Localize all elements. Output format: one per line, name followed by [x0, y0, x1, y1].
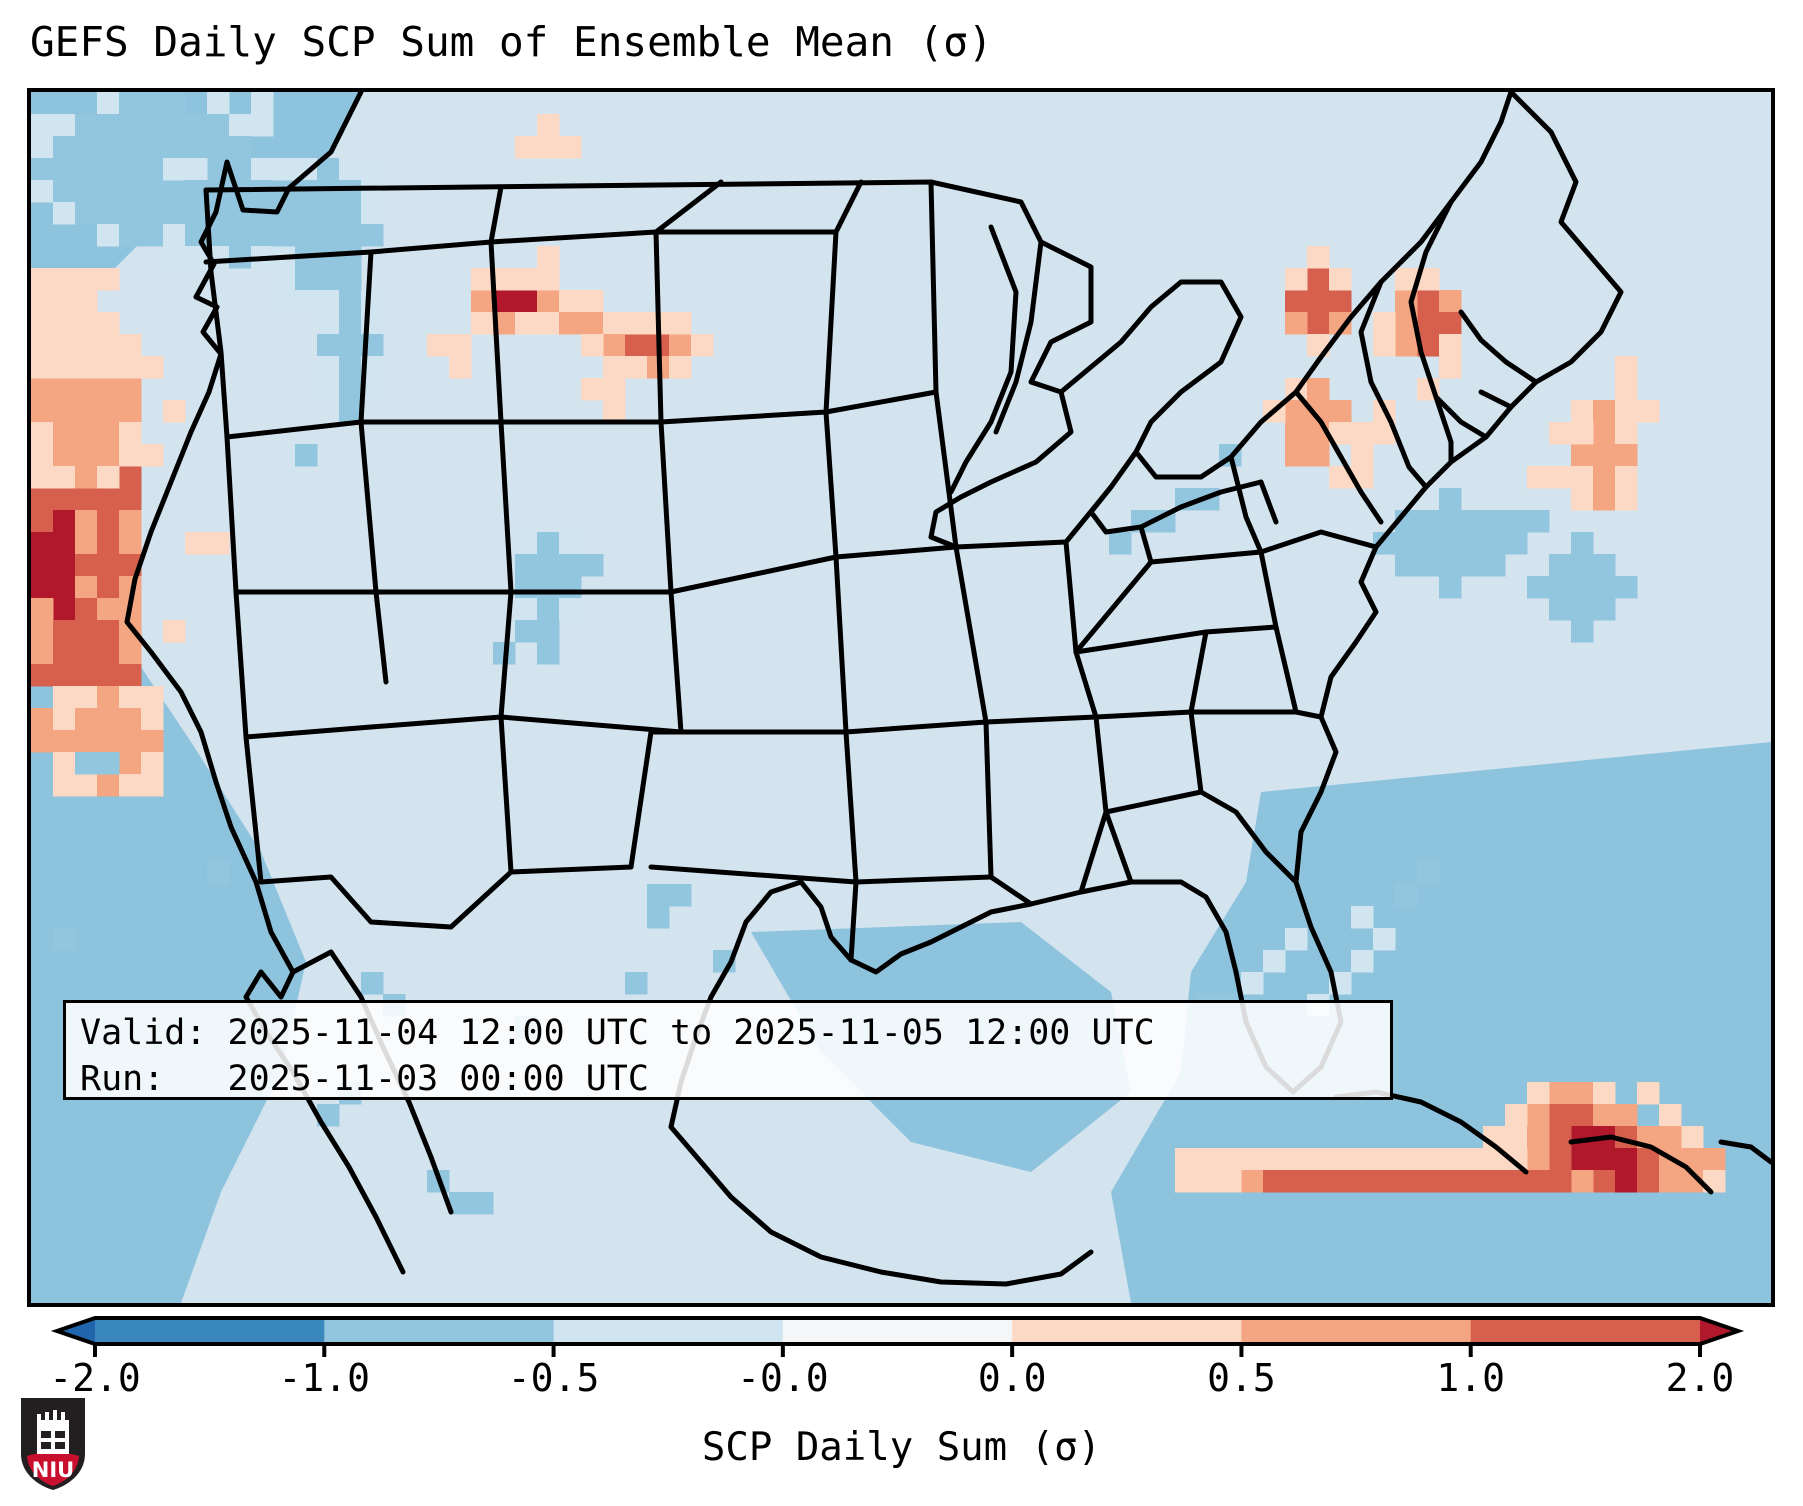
grid-cell	[53, 158, 76, 181]
grid-cell	[1593, 598, 1616, 621]
colorbar-tick-label: 0.5	[1207, 1356, 1276, 1400]
grid-cell	[1307, 1170, 1330, 1193]
colorbar-canvas[interactable]	[0, 1312, 1803, 1358]
grid-cell	[119, 378, 142, 401]
grid-cell	[559, 136, 582, 159]
grid-cell	[295, 202, 318, 225]
grid-cell	[53, 598, 76, 621]
grid-cell	[559, 312, 582, 335]
grid-cell	[163, 114, 186, 137]
grid-cell	[53, 356, 76, 379]
grid-cell	[97, 752, 120, 775]
grid-cell	[1395, 554, 1418, 577]
grid-cell	[1659, 1126, 1682, 1149]
grid-cell	[559, 532, 582, 555]
grid-cell	[185, 158, 208, 181]
grid-cell	[53, 510, 76, 533]
grid-cell	[75, 202, 98, 225]
grid-cell	[97, 136, 120, 159]
grid-cell	[75, 312, 98, 335]
grid-cell	[229, 224, 252, 247]
grid-cell	[119, 642, 142, 665]
grid-cell	[119, 532, 142, 555]
grid-cell	[669, 884, 692, 907]
grid-cell	[295, 444, 318, 467]
grid-cell	[1285, 268, 1308, 291]
grid-cell	[97, 114, 120, 137]
grid-cell	[295, 290, 318, 313]
grid-cell	[75, 334, 98, 357]
grid-cell	[141, 730, 164, 753]
grid-cell	[1571, 1082, 1594, 1105]
grid-cell	[1417, 1148, 1440, 1171]
grid-cell	[1615, 1104, 1638, 1127]
grid-cell	[1549, 598, 1572, 621]
grid-cell	[31, 488, 54, 511]
grid-cell	[75, 444, 98, 467]
grid-cell	[141, 92, 164, 115]
grid-cell	[603, 334, 626, 357]
grid-cell	[75, 730, 98, 753]
grid-cell	[515, 532, 538, 555]
grid-cell	[53, 686, 76, 709]
colorbar-segment	[95, 1318, 325, 1344]
grid-cell	[581, 334, 604, 357]
grid-cell	[163, 620, 186, 643]
grid-cell	[75, 158, 98, 181]
grid-cell	[537, 620, 560, 643]
grid-cell	[141, 686, 164, 709]
grid-cell	[53, 444, 76, 467]
grid-cell	[537, 532, 560, 555]
grid-cell	[1351, 444, 1374, 467]
grid-cell	[317, 378, 340, 401]
grid-cell	[1593, 422, 1616, 445]
grid-cell	[1527, 1126, 1550, 1149]
grid-cell	[53, 312, 76, 335]
grid-cell	[1373, 312, 1396, 335]
grid-cell	[361, 224, 384, 247]
grid-cell	[1395, 334, 1418, 357]
grid-cell	[1527, 576, 1550, 599]
grid-cell	[97, 554, 120, 577]
grid-cell	[163, 180, 186, 203]
grid-cell	[339, 202, 362, 225]
grid-cell	[141, 356, 164, 379]
grid-cell	[1549, 576, 1572, 599]
grid-cell	[119, 356, 142, 379]
grid-cell	[537, 554, 560, 577]
grid-cell	[1527, 1148, 1550, 1171]
grid-cell	[1615, 400, 1638, 423]
grid-cell	[97, 620, 120, 643]
grid-cell	[1527, 510, 1550, 533]
grid-cell	[1681, 1126, 1704, 1149]
grid-cell	[625, 334, 648, 357]
grid-cell	[119, 752, 142, 775]
grid-cell	[119, 488, 142, 511]
grid-cell	[141, 708, 164, 731]
grid-cell	[339, 356, 362, 379]
grid-cell	[119, 180, 142, 203]
grid-cell	[1703, 1148, 1726, 1171]
colorbar-segment	[1241, 1318, 1471, 1344]
grid-cell	[515, 598, 538, 621]
grid-cell	[1439, 510, 1462, 533]
grid-cell	[581, 378, 604, 401]
grid-cell	[119, 92, 142, 115]
grid-cell	[1571, 444, 1594, 467]
grid-cell	[163, 246, 186, 269]
grid-cell	[1615, 466, 1638, 489]
grid-cell	[75, 686, 98, 709]
grid-cell	[581, 290, 604, 313]
grid-cell	[207, 114, 230, 137]
grid-cell	[163, 400, 186, 423]
grid-cell	[1395, 1148, 1418, 1171]
grid-cell	[361, 972, 384, 995]
grid-cell	[1571, 554, 1594, 577]
grid-cell	[1527, 466, 1550, 489]
grid-cell	[75, 664, 98, 687]
grid-cell	[119, 774, 142, 797]
grid-cell	[647, 884, 670, 907]
grid-cell	[1329, 290, 1352, 313]
colorbar-segment	[1012, 1318, 1242, 1344]
grid-cell	[449, 356, 472, 379]
grid-cell	[273, 158, 296, 181]
grid-cell	[1307, 312, 1330, 335]
grid-cell	[31, 378, 54, 401]
grid-cell	[1549, 1148, 1572, 1171]
valid-time-line: Valid: 2025-11-04 12:00 UTC to 2025-11-0…	[80, 1010, 1376, 1056]
grid-cell	[361, 290, 384, 313]
grid-cell	[1461, 1170, 1484, 1193]
grid-cell	[163, 224, 186, 247]
grid-cell	[31, 664, 54, 687]
grid-cell	[53, 708, 76, 731]
grid-cell	[31, 708, 54, 731]
grid-cell	[141, 136, 164, 159]
grid-cell	[75, 378, 98, 401]
grid-cell	[1241, 1170, 1264, 1193]
grid-cell	[537, 576, 560, 599]
grid-cell	[1659, 1170, 1682, 1193]
grid-cell	[1307, 444, 1330, 467]
grid-cell	[1571, 1148, 1594, 1171]
grid-cell	[603, 312, 626, 335]
grid-cell	[1549, 1170, 1572, 1193]
grid-cell	[515, 136, 538, 159]
grid-cell	[75, 576, 98, 599]
grid-cell	[1439, 554, 1462, 577]
colorbar-segment	[783, 1318, 1013, 1344]
grid-cell	[97, 202, 120, 225]
grid-cell	[97, 334, 120, 357]
grid-cell	[119, 444, 142, 467]
grid-cell	[185, 114, 208, 137]
grid-cell	[75, 708, 98, 731]
info-box: Valid: 2025-11-04 12:00 UTC to 2025-11-0…	[63, 1000, 1393, 1100]
grid-cell	[537, 246, 560, 269]
grid-cell	[1615, 378, 1638, 401]
grid-cell	[1439, 1148, 1462, 1171]
grid-cell	[361, 180, 384, 203]
grid-cell	[31, 422, 54, 445]
grid-cell	[1571, 598, 1594, 621]
grid-cell	[31, 268, 54, 291]
grid-cell	[97, 158, 120, 181]
grid-cell	[75, 114, 98, 137]
grid-cell	[1329, 1170, 1352, 1193]
grid-cell	[207, 862, 230, 885]
grid-cell	[537, 136, 560, 159]
grid-cell	[1461, 532, 1484, 555]
grid-cell	[119, 136, 142, 159]
grid-cell	[1571, 488, 1594, 511]
grid-cell	[1439, 576, 1462, 599]
grid-cell	[317, 202, 340, 225]
grid-cell	[339, 312, 362, 335]
grid-cell	[1285, 290, 1308, 313]
grid-cell	[229, 136, 252, 159]
grid-cell	[559, 554, 582, 577]
grid-cell	[339, 400, 362, 423]
grid-cell	[75, 598, 98, 621]
colorbar[interactable]	[0, 1312, 1803, 1358]
grid-cell	[1571, 1170, 1594, 1193]
grid-cell	[471, 268, 494, 291]
grid-cell	[163, 158, 186, 181]
grid-cell	[53, 202, 76, 225]
colorbar-tick-label: 0.0	[978, 1356, 1047, 1400]
grid-cell	[339, 378, 362, 401]
grid-cell	[273, 290, 296, 313]
grid-cell	[75, 268, 98, 291]
grid-cell	[97, 180, 120, 203]
grid-cell	[1527, 1104, 1550, 1127]
grid-cell	[1571, 466, 1594, 489]
grid-cell	[1571, 620, 1594, 643]
grid-cell	[1263, 950, 1286, 973]
grid-cell	[1329, 268, 1352, 291]
grid-cell	[1483, 510, 1506, 533]
grid-cell	[339, 290, 362, 313]
grid-cell	[1549, 554, 1572, 577]
grid-cell	[31, 356, 54, 379]
grid-cell	[1549, 1104, 1572, 1127]
grid-cell	[361, 158, 384, 181]
map-panel[interactable]: Valid: 2025-11-04 12:00 UTC to 2025-11-0…	[27, 88, 1775, 1307]
grid-cell	[625, 356, 648, 379]
grid-cell	[1417, 862, 1440, 885]
niu-logo: NIU	[17, 1396, 89, 1492]
grid-cell	[185, 136, 208, 159]
grid-cell	[1615, 444, 1638, 467]
grid-cell	[1219, 1148, 1242, 1171]
grid-cell	[97, 510, 120, 533]
grid-cell	[1285, 444, 1308, 467]
grid-cell	[119, 400, 142, 423]
grid-cell	[75, 774, 98, 797]
grid-cell	[581, 312, 604, 335]
grid-cell	[1593, 1170, 1616, 1193]
grid-cell	[1593, 466, 1616, 489]
grid-cell	[53, 928, 76, 951]
grid-cell	[251, 92, 274, 115]
grid-cell	[317, 268, 340, 291]
grid-cell	[1109, 532, 1132, 555]
grid-cell	[119, 224, 142, 247]
grid-cell	[53, 488, 76, 511]
grid-cell	[1615, 356, 1638, 379]
grid-cell	[1417, 1170, 1440, 1193]
page-title: GEFS Daily SCP Sum of Ensemble Mean (σ)	[30, 18, 1770, 66]
grid-cell	[1637, 1170, 1660, 1193]
grid-cell	[97, 400, 120, 423]
grid-cell	[31, 136, 54, 159]
grid-cell	[31, 576, 54, 599]
grid-cell	[1505, 510, 1528, 533]
grid-cell	[537, 642, 560, 665]
grid-cell	[581, 554, 604, 577]
grid-cell	[97, 422, 120, 445]
grid-cell	[97, 224, 120, 247]
grid-cell	[1593, 488, 1616, 511]
grid-cell	[515, 620, 538, 643]
grid-cell	[1549, 1126, 1572, 1149]
grid-cell	[1417, 510, 1440, 533]
grid-cell	[53, 774, 76, 797]
grid-cell	[1417, 290, 1440, 313]
grid-cell	[1439, 1170, 1462, 1193]
grid-cell	[647, 906, 670, 929]
grid-cell	[1197, 1148, 1220, 1171]
grid-cell	[1439, 312, 1462, 335]
grid-cell	[537, 290, 560, 313]
grid-cell	[1285, 1170, 1308, 1193]
grid-cell	[515, 554, 538, 577]
grid-cell	[339, 268, 362, 291]
grid-cell	[53, 642, 76, 665]
grid-cell	[1197, 1170, 1220, 1193]
grid-cell	[119, 114, 142, 137]
grid-cell	[1461, 554, 1484, 577]
grid-cell	[1593, 1148, 1616, 1171]
grid-cell	[1593, 400, 1616, 423]
grid-cell	[75, 422, 98, 445]
grid-cell	[1549, 422, 1572, 445]
grid-cell	[141, 752, 164, 775]
grid-cell	[515, 312, 538, 335]
grid-cell	[31, 312, 54, 335]
grid-cell	[295, 224, 318, 247]
grid-cell	[537, 268, 560, 291]
grid-cell	[1593, 1104, 1616, 1127]
grid-cell	[31, 620, 54, 643]
grid-cell	[119, 708, 142, 731]
grid-cell	[1351, 950, 1374, 973]
grid-cell	[1285, 928, 1308, 951]
grid-cell	[1615, 488, 1638, 511]
grid-cell	[1461, 510, 1484, 533]
grid-cell	[1351, 1170, 1374, 1193]
grid-cell	[1549, 466, 1572, 489]
grid-cell	[119, 202, 142, 225]
grid-cell	[97, 642, 120, 665]
grid-cell	[295, 268, 318, 291]
grid-cell	[339, 180, 362, 203]
colorbar-axis-label: SCP Daily Sum (σ)	[0, 1425, 1803, 1470]
map-canvas[interactable]	[31, 92, 1771, 1303]
grid-cell	[119, 686, 142, 709]
grid-cell	[119, 158, 142, 181]
grid-cell	[1571, 576, 1594, 599]
grid-cell	[119, 334, 142, 357]
grid-cell	[53, 532, 76, 555]
niu-logo-text: NIU	[32, 1458, 74, 1482]
grid-cell	[251, 114, 274, 137]
grid-cell	[273, 224, 296, 247]
grid-cell	[537, 312, 560, 335]
grid-cell	[1285, 1148, 1308, 1171]
grid-cell	[1285, 312, 1308, 335]
grid-cell	[53, 576, 76, 599]
grid-cell	[75, 180, 98, 203]
colorbar-segment	[324, 1318, 554, 1344]
grid-cell	[141, 180, 164, 203]
grid-cell	[251, 224, 274, 247]
grid-cell	[1307, 290, 1330, 313]
grid-cell	[53, 400, 76, 423]
grid-cell	[31, 114, 54, 137]
grid-cell	[691, 334, 714, 357]
grid-cell	[1593, 1082, 1616, 1105]
grid-cell	[1637, 1082, 1660, 1105]
grid-cell	[1307, 268, 1330, 291]
grid-cell	[1175, 1170, 1198, 1193]
grid-cell	[1461, 1148, 1484, 1171]
grid-cell	[53, 730, 76, 753]
grid-cell	[1219, 1170, 1242, 1193]
grid-cell	[75, 400, 98, 423]
grid-cell	[1527, 1082, 1550, 1105]
grid-cell	[1329, 400, 1352, 423]
grid-cell	[1483, 532, 1506, 555]
grid-cell	[1615, 1148, 1638, 1171]
grid-cell	[97, 532, 120, 555]
grid-cell	[669, 334, 692, 357]
grid-cell	[1395, 1170, 1418, 1193]
grid-cell	[75, 620, 98, 643]
grid-cell	[1593, 444, 1616, 467]
grid-cell	[1307, 378, 1330, 401]
colorbar-segment	[554, 1318, 784, 1344]
grid-cell	[141, 158, 164, 181]
grid-cell	[471, 290, 494, 313]
grid-cell	[493, 268, 516, 291]
grid-cell	[31, 466, 54, 489]
grid-cell	[53, 114, 76, 137]
grid-cell	[1241, 1148, 1264, 1171]
grid-cell	[31, 158, 54, 181]
grid-cell	[1395, 532, 1418, 555]
grid-cell	[427, 334, 450, 357]
grid-cell	[75, 136, 98, 159]
grid-cell	[163, 202, 186, 225]
grid-cell	[97, 312, 120, 335]
colorbar-tick-label: -2.0	[49, 1356, 141, 1400]
